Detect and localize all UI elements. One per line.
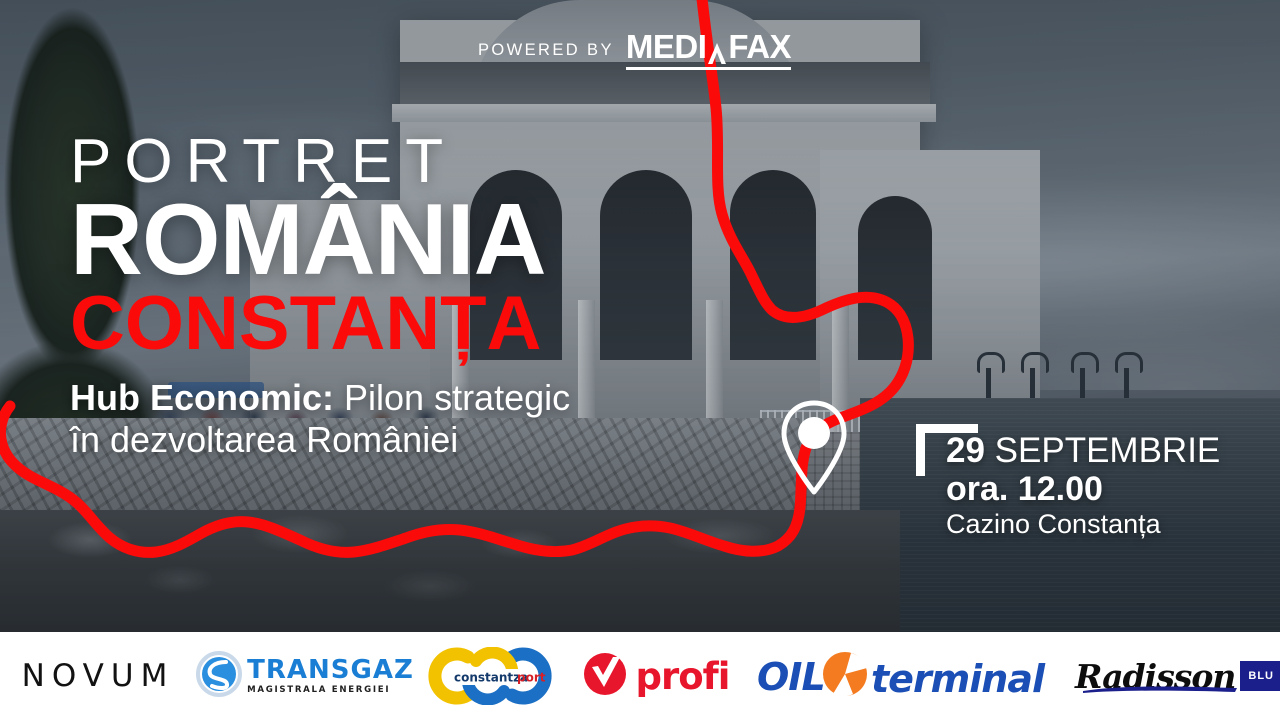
oil-terminal-text-secondary: terminal [871,657,1046,701]
sponsor-logo-oil-terminal[interactable]: OIL terminal [746,632,1076,720]
mediafax-underline [626,67,791,70]
sponsor-bar: NOVUM TRANSGAZ MAGISTRALA ENERGIEI [0,632,1280,720]
novum-wordmark: NOVUM [22,658,175,694]
event-venue: Cazino Constanța [928,508,1220,540]
oil-terminal-text-primary: OIL [757,655,825,699]
constantza-port-text-secondary: port [517,671,546,685]
headline-romania: ROMÂNIA [70,194,570,287]
event-month: SEPTEMBRIE [985,431,1220,470]
sponsor-logo-transgaz[interactable]: TRANSGAZ MAGISTRALA ENERGIEI [196,632,414,720]
radisson-blu-badge: BLU [1240,661,1280,691]
constantza-port-mark-icon: constantza port [424,647,556,705]
radisson-blu-badge-text: BLU [1248,670,1274,682]
powered-by-mediafax: POWERED BY MEDI FAX [478,30,791,63]
profi-check-circle-icon [583,652,627,701]
sponsor-logo-novum[interactable]: NOVUM [0,632,196,720]
transgaz-swoosh-icon [196,651,242,702]
mediafax-text-part2: FAX [728,30,791,63]
event-details-block: 29 SEPTEMBRIE ora. 12.00 Cazino Constanț… [928,432,1220,540]
subtitle-bold-part: Hub Economic: [70,377,334,418]
profi-wordmark: profi [636,655,730,698]
subtitle-line-1: Hub Economic: Pilon strategic [70,377,570,419]
oil-terminal-lockup-icon: OIL terminal [755,648,1067,704]
transgaz-wordmark: TRANSGAZ [247,657,414,683]
subtitle-line-2: în dezvoltarea României [70,419,570,461]
powered-by-label: POWERED BY [478,42,614,64]
corner-bracket-decoration [916,424,978,476]
map-pin-icon [764,398,864,496]
radisson-wordmark: Radisson [1075,657,1235,696]
headline-portret: PORTRET [70,132,570,192]
sponsor-logo-profi[interactable]: profi [566,632,746,720]
sponsor-logo-radisson-blu[interactable]: Radisson BLU [1076,632,1280,720]
mediafax-triangle-a-icon [706,37,728,61]
mediafax-text-part1: MEDI [626,30,707,63]
headline-constanta: CONSTANȚA [70,288,570,360]
headline-block: PORTRET ROMÂNIA CONSTANȚA Hub Economic: … [70,132,570,462]
subtitle-regular-part: Pilon strategic [334,377,570,418]
transgaz-tagline: MAGISTRALA ENERGIEI [247,686,414,695]
radisson-blue-brush-underline [1081,684,1241,694]
sponsor-logo-constantza-port[interactable]: constantza port [414,632,566,720]
event-poster: POWERED BY MEDI FAX PORTRET ROMÂNIA CONS… [0,0,1280,720]
mediafax-logo: MEDI FAX [626,30,791,63]
